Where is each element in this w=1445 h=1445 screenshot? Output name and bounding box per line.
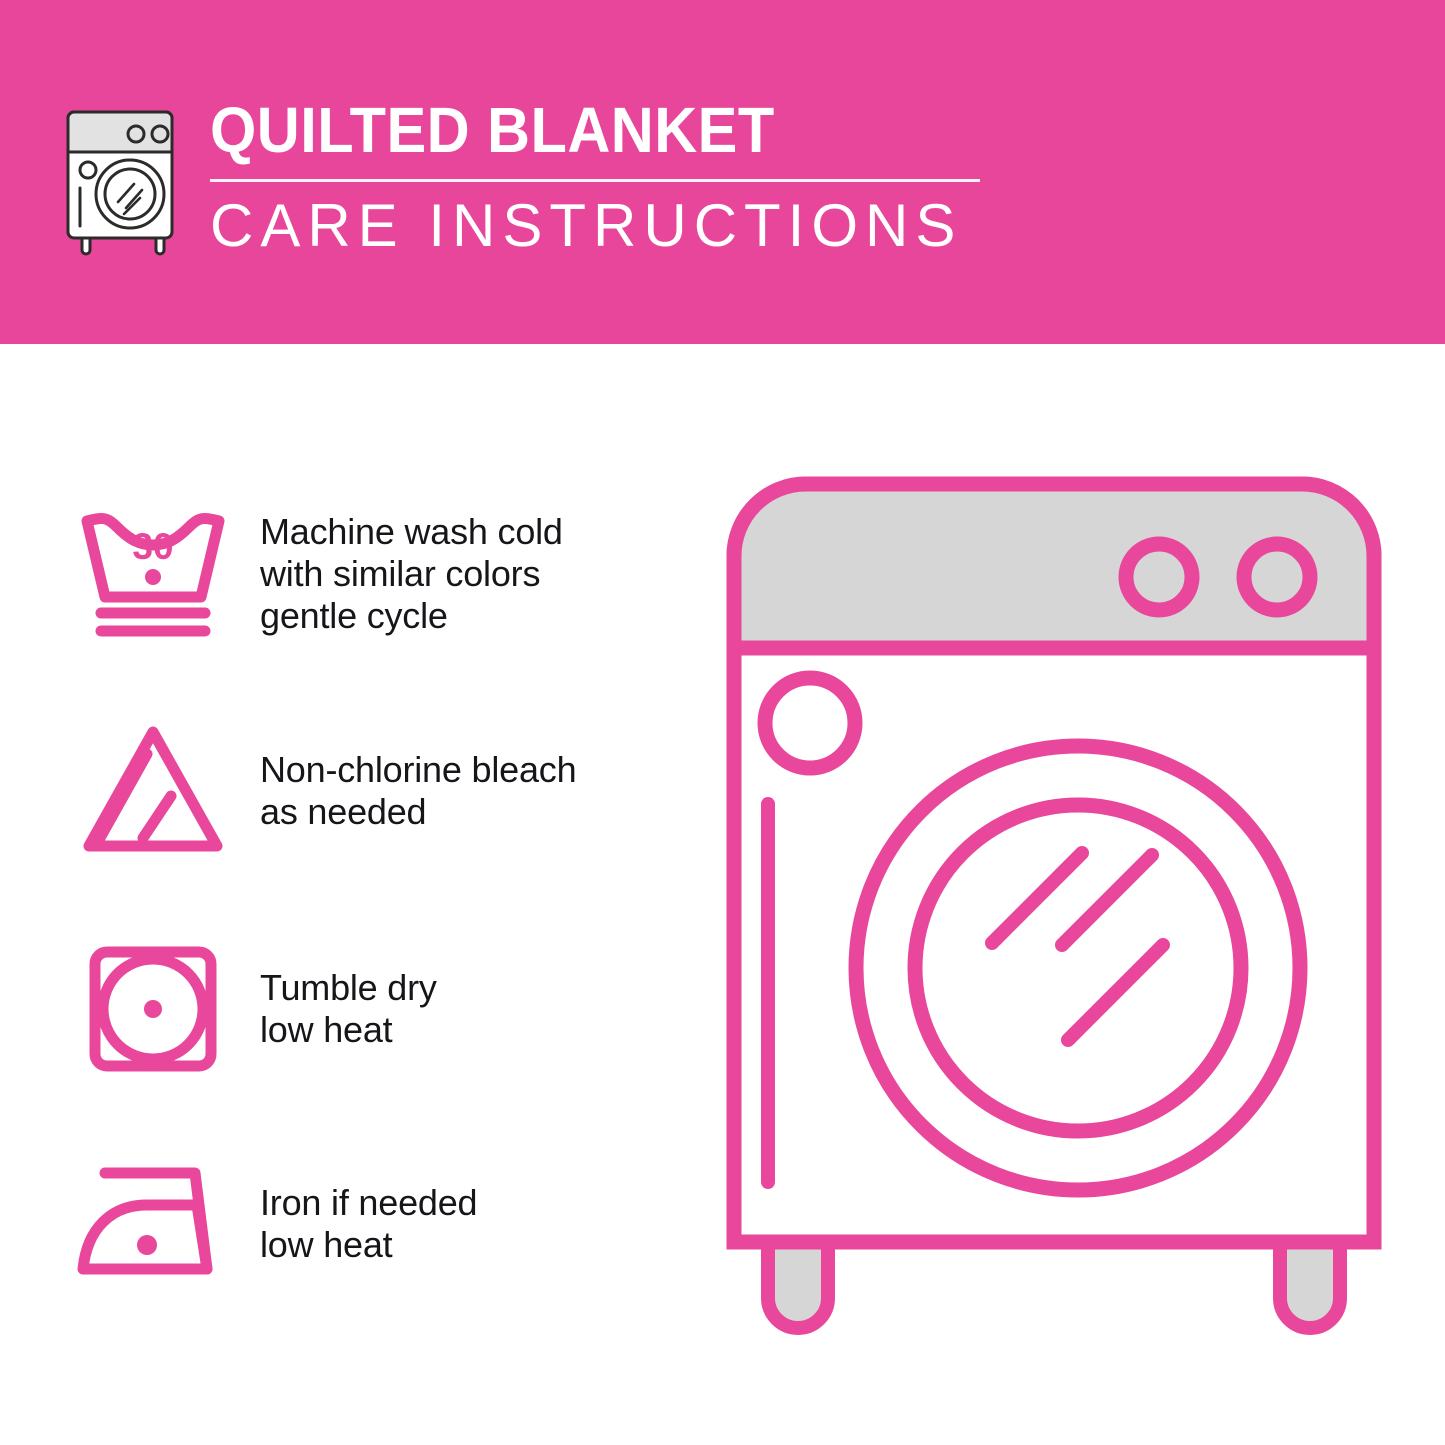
care-row-bleach: Non-chlorine bleach as needed xyxy=(70,716,690,866)
care-label-line: Non-chlorine bleach xyxy=(260,749,576,791)
care-label-line: Iron if needed xyxy=(260,1182,477,1224)
care-label-tumble-dry: Tumble dry low heat xyxy=(260,967,437,1051)
header-banner: QUILTED BLANKET CARE INSTRUCTIONS xyxy=(0,0,1445,344)
care-label-line: low heat xyxy=(260,1224,477,1266)
care-label-line: Machine wash cold xyxy=(260,511,563,553)
care-label-machine-wash: Machine wash cold with similar colors ge… xyxy=(260,511,563,637)
triangle-non-chlorine-bleach-icon xyxy=(70,716,235,866)
care-label-iron: Iron if needed low heat xyxy=(260,1182,477,1266)
care-label-bleach: Non-chlorine bleach as needed xyxy=(260,749,576,833)
header-title-group: QUILTED BLANKET CARE INSTRUCTIONS xyxy=(210,98,980,256)
front-load-washing-machine-illustration xyxy=(720,470,1420,1380)
care-label-line: with similar colors xyxy=(260,553,563,595)
care-row-tumble-dry: Tumble dry low heat xyxy=(70,934,690,1084)
care-label-line: Tumble dry xyxy=(260,967,437,1009)
control-panel xyxy=(734,484,1374,648)
care-row-iron: Iron if needed low heat xyxy=(70,1149,690,1299)
page-title: QUILTED BLANKET xyxy=(210,98,926,162)
care-label-line: as needed xyxy=(260,791,576,833)
iron-low-heat-icon xyxy=(70,1149,235,1299)
care-label-line: low heat xyxy=(260,1009,437,1051)
title-divider xyxy=(210,179,980,182)
care-label-line: gentle cycle xyxy=(260,595,563,637)
care-instruction-list: 30 Machine wash cold with similar colors… xyxy=(0,344,700,1445)
tumble-dry-low-heat-icon xyxy=(70,934,235,1084)
header-content: QUILTED BLANKET CARE INSTRUCTIONS xyxy=(60,98,980,258)
washing-machine-icon xyxy=(60,106,188,258)
page-subtitle: CARE INSTRUCTIONS xyxy=(210,196,980,256)
wash-tub-30-gentle-icon: 30 xyxy=(70,499,235,649)
wash-temperature-label: 30 xyxy=(132,526,173,567)
care-row-machine-wash: 30 Machine wash cold with similar colors… xyxy=(70,499,690,649)
